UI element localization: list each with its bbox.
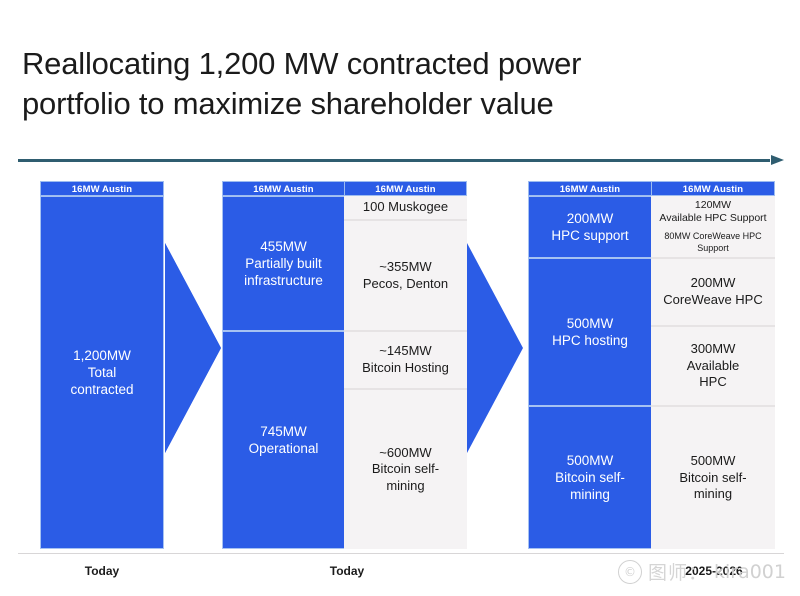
segment-label-1: CoreWeave HPC (663, 292, 762, 309)
column-future-detail: 16MW Austin 120MW Available HPC Support … (651, 181, 775, 549)
segment-bitcoin-self-mining[interactable]: ~600MW Bitcoin self- mining (344, 389, 467, 549)
column-built-operational: 16MW Austin 455MW Partially built infras… (222, 181, 345, 549)
segment-label-1: Operational (249, 440, 319, 457)
segment-label-1: HPC support (551, 227, 628, 244)
segment-operational[interactable]: 745MW Operational (222, 331, 345, 549)
column-stack: 455MW Partially built infrastructure 745… (222, 196, 345, 549)
segment-label-2: HPC (687, 374, 740, 391)
segment-value: ~600MW (372, 445, 439, 462)
segment-label-1: Bitcoin self- (555, 469, 625, 486)
segment-value: ~355MW (363, 259, 448, 276)
axis-label-center: Today (285, 564, 409, 578)
segment-pecos-denton[interactable]: ~355MW Pecos, Denton (344, 220, 467, 331)
segment-label-2: infrastructure (244, 272, 323, 289)
segment-available-hpc-support[interactable]: 120MW Available HPC Support (651, 196, 775, 228)
segment-label-2: mining (679, 486, 746, 503)
column-stack: 100 Muskogee ~355MW Pecos, Denton ~145MW… (344, 196, 467, 549)
segment-value: 455MW (244, 238, 323, 255)
axis-label-right: 2025-2026 (652, 564, 776, 578)
column-header-austin: 16MW Austin (651, 181, 775, 196)
segment-label-1: HPC hosting (552, 332, 628, 349)
axis-label-left: Today (40, 564, 164, 578)
segment-value: ~145MW (362, 343, 449, 360)
slide-canvas: Reallocating 1,200 MW contracted power p… (0, 0, 800, 596)
chart-baseline (18, 553, 784, 554)
segment-bitcoin-self-mining[interactable]: 500MW Bitcoin self- mining (651, 406, 775, 549)
segment-label-1: Partially built (244, 255, 323, 272)
title-line-1: Reallocating 1,200 MW contracted power (22, 46, 581, 81)
segment-value: 120MW (659, 199, 766, 212)
segment-partially-built[interactable]: 455MW Partially built infrastructure (222, 196, 345, 331)
flow-arrow-2-icon (467, 243, 523, 453)
segment-muskogee[interactable]: 100 Muskogee (344, 196, 467, 220)
segment-label-1: Bitcoin Hosting (362, 360, 449, 377)
segment-label-2: mining (555, 486, 625, 503)
timeline-shaft (18, 159, 770, 162)
page-title: Reallocating 1,200 MW contracted power p… (22, 44, 762, 123)
segment-value: 200MW (663, 275, 762, 292)
column-total-contracted: 16MW Austin 1,200MW Total contracted (40, 181, 164, 549)
column-future-allocation: 16MW Austin 200MW HPC support 500MW HPC … (528, 181, 652, 549)
segment-label-1: Available (687, 358, 740, 375)
segment-label-1: Bitcoin self- (679, 470, 746, 487)
flow-arrow-1-icon (165, 243, 221, 453)
column-header-austin: 16MW Austin (222, 181, 345, 196)
segment-label-2: contracted (70, 381, 133, 398)
segment-value: 500MW (552, 315, 628, 332)
segment-value: 500MW (679, 453, 746, 470)
segment-value: 1,200MW (70, 347, 133, 364)
segment-label-1: Bitcoin self- (372, 461, 439, 478)
column-header-austin: 16MW Austin (528, 181, 652, 196)
watermark-mark-icon: © (618, 560, 642, 584)
segment-value: 200MW (551, 210, 628, 227)
segment-hpc-support[interactable]: 200MW HPC support (528, 196, 652, 258)
segment-total-contracted[interactable]: 1,200MW Total contracted (40, 196, 164, 549)
segment-bitcoin-hosting[interactable]: ~145MW Bitcoin Hosting (344, 331, 467, 389)
column-current-allocation: 16MW Austin 100 Muskogee ~355MW Pecos, D… (344, 181, 467, 549)
segment-label-1: Pecos, Denton (363, 276, 448, 293)
timeline-arrow (18, 155, 784, 167)
segment-available-hpc[interactable]: 300MW Available HPC (651, 326, 775, 406)
column-header-austin: 16MW Austin (40, 181, 164, 196)
segment-label-1: Support (664, 243, 761, 255)
segment-value: 300MW (687, 341, 740, 358)
segment-value: 100 Muskogee (363, 199, 448, 216)
segment-value: 745MW (249, 423, 319, 440)
column-stack: 120MW Available HPC Support 80MW CoreWea… (651, 196, 775, 549)
timeline-arrowhead-icon (771, 155, 784, 165)
title-line-2: portfolio to maximize shareholder value (22, 84, 762, 124)
segment-value: 80MW CoreWeave HPC (664, 231, 761, 243)
segment-coreweave-hpc-support[interactable]: 80MW CoreWeave HPC Support (651, 228, 775, 258)
column-stack: 200MW HPC support 500MW HPC hosting 500M… (528, 196, 652, 549)
segment-label-1: Available HPC Support (659, 212, 766, 225)
segment-coreweave-hpc[interactable]: 200MW CoreWeave HPC (651, 258, 775, 326)
segment-hpc-hosting[interactable]: 500MW HPC hosting (528, 258, 652, 406)
segment-bitcoin-self-mining[interactable]: 500MW Bitcoin self- mining (528, 406, 652, 549)
column-header-austin: 16MW Austin (344, 181, 467, 196)
segment-value: 500MW (555, 452, 625, 469)
column-stack: 1,200MW Total contracted (40, 196, 164, 549)
segment-label-2: mining (372, 478, 439, 495)
segment-label-1: Total (70, 364, 133, 381)
